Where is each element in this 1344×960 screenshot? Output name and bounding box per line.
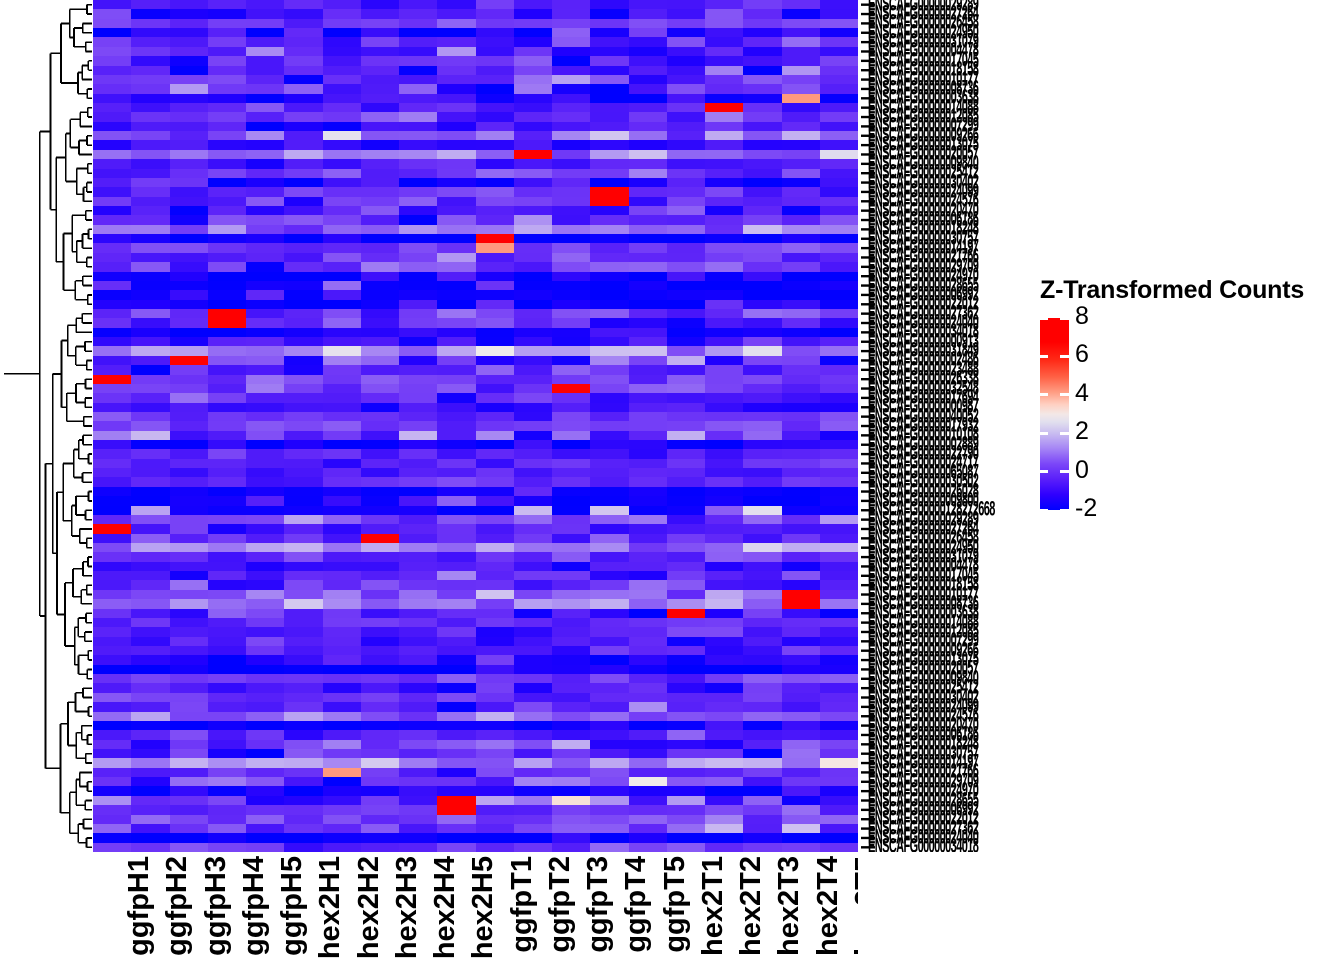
legend-tick-label: 6 <box>1075 342 1089 367</box>
column-label: ggfpH2 <box>161 856 194 956</box>
legend-tick <box>1060 393 1069 396</box>
column-label: ggfpH4 <box>238 856 271 956</box>
legend-tick <box>1060 470 1069 473</box>
heatmap-figure: ENSCAFG00000029289ENSCAFG00000027264ENSC… <box>0 0 1344 960</box>
column-label: hex2T2 <box>735 856 768 956</box>
column-label: ggfpH5 <box>276 856 309 956</box>
column-label: ggfpT5 <box>659 856 692 953</box>
column-labels: ggfpH1ggfpH2ggfpH3ggfpH4ggfpH5hex2H1hex2… <box>93 852 858 960</box>
legend-tick-label: 0 <box>1075 458 1089 483</box>
column-label: ggfpT4 <box>620 856 653 953</box>
legend-tick <box>1040 317 1048 320</box>
column-label: hex2H3 <box>391 856 424 959</box>
legend-tick <box>1040 509 1048 512</box>
legend-tick-label: 8 <box>1075 304 1089 329</box>
legend-tick <box>1040 432 1048 435</box>
column-label: hex2H2 <box>353 856 386 959</box>
legend-tick <box>1060 432 1069 435</box>
column-label: ggfpH1 <box>123 856 156 956</box>
legend-tick-label: 2 <box>1075 419 1089 444</box>
column-label: hex2H1 <box>314 856 347 959</box>
legend-tick <box>1040 355 1048 358</box>
column-label: hex2T1 <box>697 856 730 956</box>
legend-tick <box>1060 509 1069 512</box>
column-label: ggfpT2 <box>544 856 577 953</box>
column-label: hex2T3 <box>773 856 806 956</box>
legend-tick-label: -2 <box>1075 496 1097 521</box>
legend-tick-label: 4 <box>1075 381 1089 406</box>
row-label-text: ENSCAFG00000029289ENSCAFG00000027264ENSC… <box>868 0 1035 852</box>
column-label: ggfpH3 <box>200 856 233 956</box>
legend-colorbar <box>1040 318 1069 510</box>
legend: Z-Transformed Counts 86420-2 <box>1035 276 1335 526</box>
heatmap-canvas <box>93 0 858 852</box>
heatmap-matrix <box>93 0 858 852</box>
column-label: hex2T4 <box>812 856 845 956</box>
legend-title: Z-Transformed Counts <box>1040 276 1304 305</box>
row-dendrogram <box>0 0 93 852</box>
legend-tick <box>1060 355 1069 358</box>
legend-tick <box>1040 393 1048 396</box>
column-label: hex2T5 <box>850 856 858 956</box>
row-label: ENSCAFG00000034018 <box>868 836 978 852</box>
row-labels: ENSCAFG00000029289ENSCAFG00000027264ENSC… <box>860 0 1035 852</box>
legend-tick <box>1040 470 1048 473</box>
legend-tick <box>1060 317 1069 320</box>
column-label: hex2H5 <box>467 856 500 959</box>
column-label: ggfpT1 <box>506 856 539 953</box>
column-label: ggfpT3 <box>582 856 615 953</box>
column-label: hex2H4 <box>429 856 462 959</box>
